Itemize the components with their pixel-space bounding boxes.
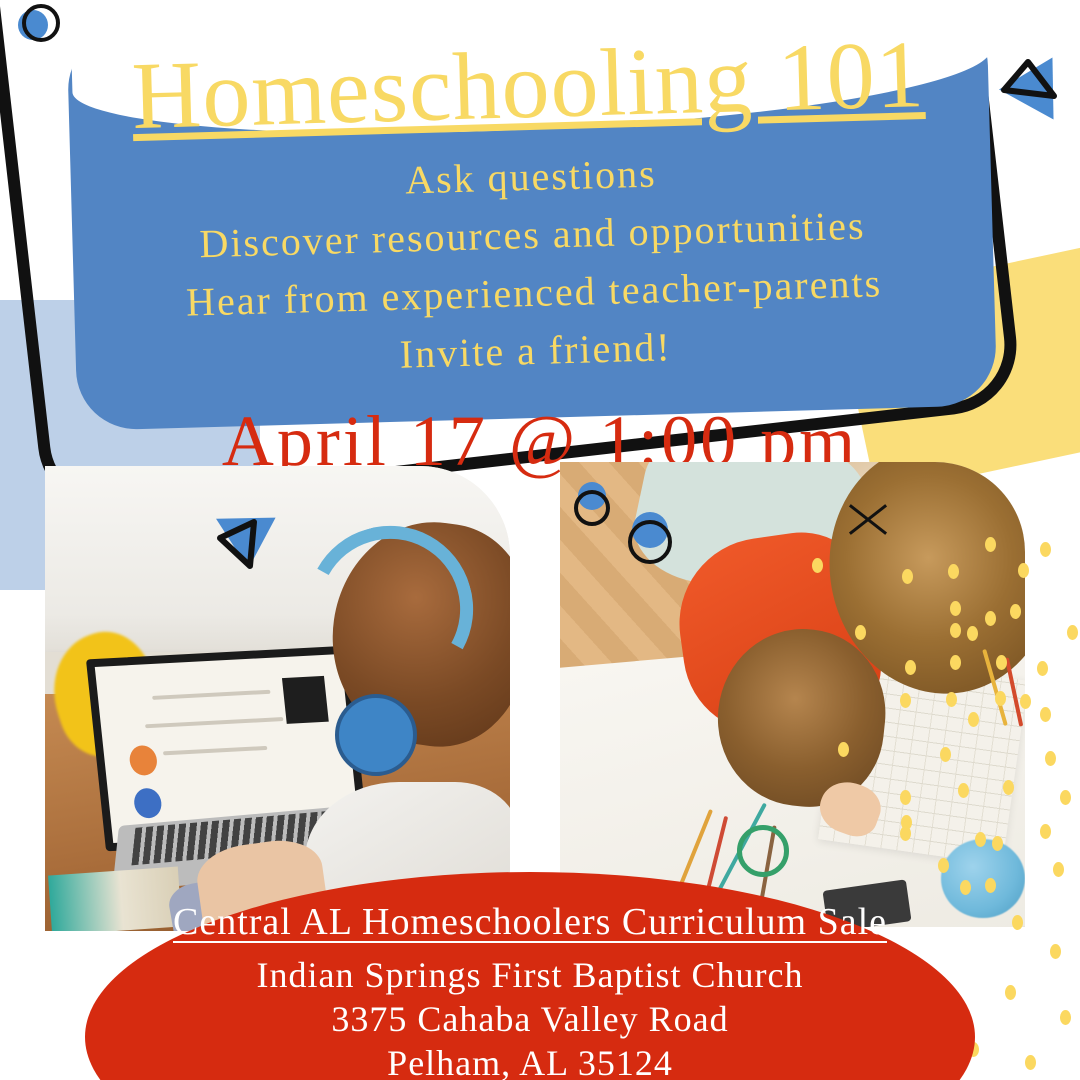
black-triangle-outline-icon <box>208 504 278 576</box>
screen-logo-block <box>282 676 329 724</box>
confetti-dot <box>900 790 911 805</box>
black-ring-icon <box>628 520 672 564</box>
confetti-dot <box>940 747 951 762</box>
confetti-dot <box>967 626 978 641</box>
confetti-dot <box>968 712 979 727</box>
screen-orange-dot <box>128 745 158 776</box>
confetti-dot <box>900 693 911 708</box>
confetti-dot <box>960 880 971 895</box>
confetti-dot <box>950 655 961 670</box>
confetti-dot <box>1060 1010 1071 1025</box>
black-triangle-outline-icon <box>992 52 1062 122</box>
venue-name: Indian Springs First Baptist Church <box>85 954 975 998</box>
confetti-dot <box>985 878 996 893</box>
confetti-dot <box>1025 1055 1036 1070</box>
black-ring-icon <box>574 490 610 526</box>
black-ring-icon <box>22 4 60 42</box>
confetti-dot <box>1005 985 1016 1000</box>
confetti-dot <box>902 569 913 584</box>
confetti-dot <box>905 660 916 675</box>
headphone-earcup <box>335 694 417 776</box>
screen-text-line <box>146 717 284 728</box>
confetti-dot <box>996 655 1007 670</box>
address-block: Central AL Homeschoolers Curriculum Sale… <box>85 900 975 1080</box>
confetti-dot <box>900 826 911 841</box>
x-mark-icon <box>845 495 891 541</box>
confetti-dot <box>958 783 969 798</box>
confetti-dot <box>812 558 823 573</box>
confetti-dot <box>838 742 849 757</box>
confetti-dot <box>1010 604 1021 619</box>
confetti-dot <box>995 691 1006 706</box>
confetti-dot <box>938 858 949 873</box>
confetti-dot <box>985 537 996 552</box>
bullet-list: Ask questions Discover resources and opp… <box>182 138 884 389</box>
confetti-dot <box>1040 824 1051 839</box>
city-state-zip: Pelham, AL 35124 <box>85 1042 975 1080</box>
scissors <box>737 825 789 877</box>
confetti-dot <box>1050 944 1061 959</box>
confetti-dot <box>975 832 986 847</box>
screen-blue-dot <box>132 787 162 818</box>
confetti-dot <box>1037 661 1048 676</box>
confetti-dot <box>1045 751 1056 766</box>
confetti-dot <box>950 601 961 616</box>
confetti-dot <box>948 564 959 579</box>
screen-text-line <box>152 690 271 700</box>
confetti-dot <box>855 625 866 640</box>
confetti-dot <box>1018 563 1029 578</box>
confetti-dot <box>1053 862 1064 877</box>
confetti-dot <box>1040 542 1051 557</box>
screen-text-line <box>163 746 267 755</box>
confetti-dot <box>1020 694 1031 709</box>
flyer-canvas: Homeschooling 101 Ask questions Discover… <box>0 0 1080 1080</box>
headline-block: Homeschooling 101 Ask questions Discover… <box>67 5 998 431</box>
confetti-dot <box>1040 707 1051 722</box>
confetti-dot <box>1067 625 1078 640</box>
street-address: 3375 Cahaba Valley Road <box>85 998 975 1042</box>
organization-name: Central AL Homeschoolers Curriculum Sale <box>85 900 975 944</box>
confetti-dot <box>946 692 957 707</box>
page-title: Homeschooling 101 <box>131 25 926 145</box>
confetti-dot <box>985 611 996 626</box>
confetti-dot <box>950 623 961 638</box>
confetti-dot <box>1012 915 1023 930</box>
confetti-dot <box>1060 790 1071 805</box>
confetti-dot <box>992 836 1003 851</box>
confetti-dot <box>1003 780 1014 795</box>
